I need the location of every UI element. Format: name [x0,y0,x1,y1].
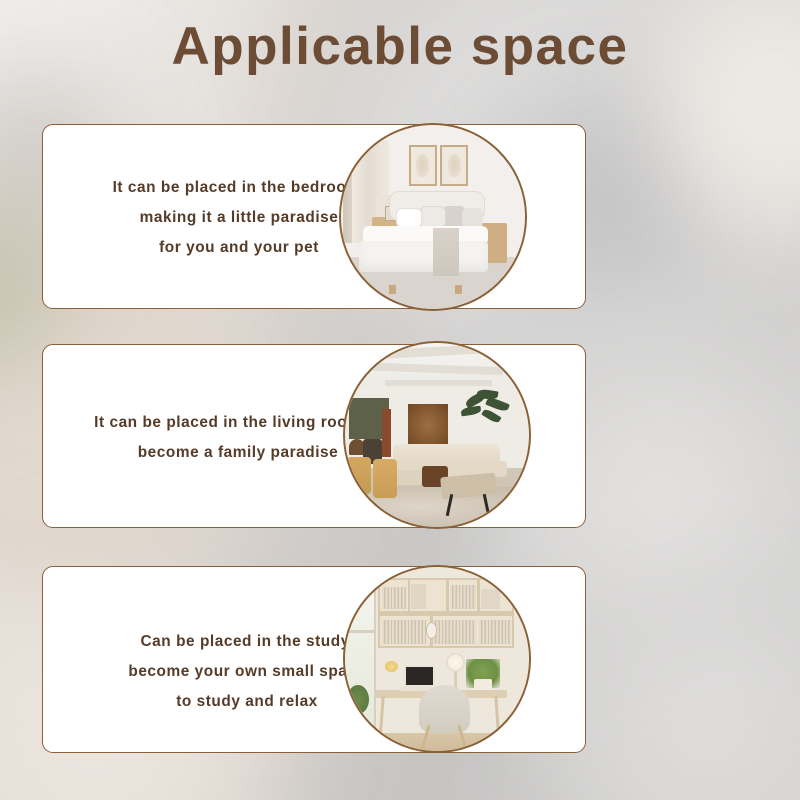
living-room-photo [343,341,531,529]
study-photo [343,565,531,753]
page-title: Applicable space [0,18,800,76]
card-living-room: It can be placed in the living room to b… [42,344,586,528]
applicable-space-page: Applicable space It can be placed in the… [0,0,800,800]
bedroom-photo [339,123,527,311]
bedroom-photo-scene [341,125,525,309]
card-bedroom: It can be placed in the bedroom, making … [42,124,586,309]
card-study: Can be placed in the study, become your … [42,566,586,753]
living-room-photo-scene [345,343,529,527]
study-photo-scene [345,567,529,751]
